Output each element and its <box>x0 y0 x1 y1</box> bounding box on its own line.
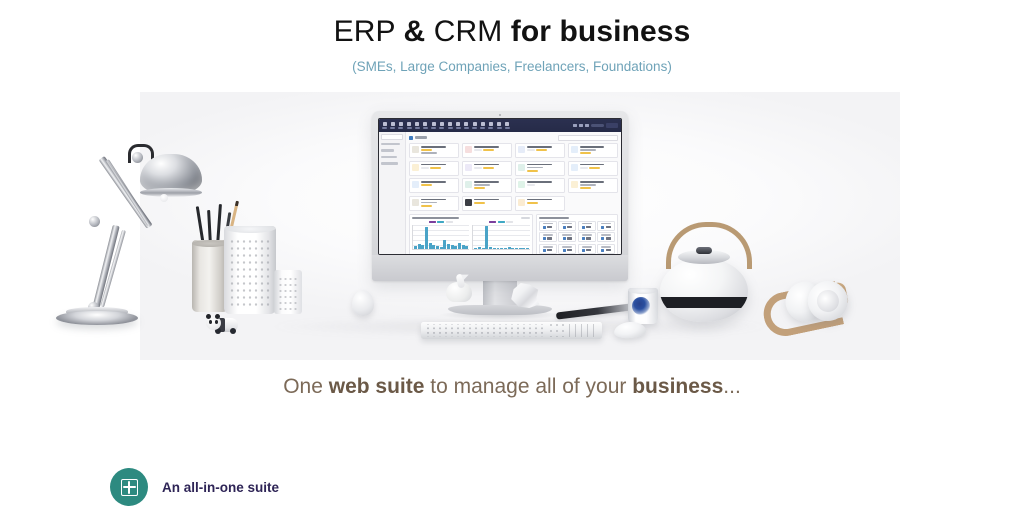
bar <box>519 248 522 249</box>
bar <box>462 245 465 249</box>
stat-icon <box>543 249 546 252</box>
dashboard-card[interactable] <box>515 178 565 193</box>
dashboard-card[interactable] <box>568 143 618 158</box>
stat-value <box>561 237 574 240</box>
card-amount <box>580 152 591 154</box>
bar <box>526 248 529 249</box>
toolbar-item-icon <box>497 122 501 126</box>
toolbar-status-icon[interactable] <box>573 124 577 127</box>
monitor-chin <box>372 255 628 281</box>
webcam-icon <box>499 114 501 116</box>
card-amount-secondary <box>474 149 482 151</box>
dashboard-card[interactable] <box>462 143 512 158</box>
card-amount-secondary <box>527 149 535 151</box>
card-icon <box>412 164 419 171</box>
card-value-row <box>421 149 456 151</box>
hero-image <box>0 92 1024 360</box>
dashboard-card[interactable] <box>568 161 618 176</box>
stat-number <box>547 226 552 228</box>
dashboard-card[interactable] <box>515 161 565 176</box>
dashboard-card[interactable] <box>462 196 512 211</box>
card-value-row <box>474 149 509 151</box>
stat-tile[interactable] <box>578 221 596 231</box>
card-value-row <box>421 184 456 186</box>
card-amount <box>527 202 538 204</box>
card-title <box>474 146 499 148</box>
stat-label <box>601 223 611 224</box>
legend-swatch-purple <box>429 221 436 224</box>
dashboard-card[interactable] <box>409 143 459 158</box>
card-title <box>527 199 552 201</box>
legend-swatch-cyan <box>498 221 505 224</box>
charts-panel <box>409 214 533 255</box>
card-title <box>527 181 552 183</box>
monitor-frame <box>372 111 628 281</box>
tagline-segment: to manage all of your <box>424 375 632 398</box>
toolbar-item[interactable] <box>382 122 387 128</box>
keyboard-numpad <box>569 324 599 337</box>
bar <box>485 226 488 249</box>
card-amount <box>536 149 547 151</box>
card-amount-secondary <box>474 167 482 169</box>
panel-title <box>539 217 569 219</box>
toolbar-item-label <box>464 127 469 128</box>
bar <box>497 248 500 249</box>
bar <box>421 245 424 249</box>
stat-tile[interactable] <box>558 244 576 254</box>
dashboard-card[interactable] <box>409 178 459 193</box>
card-title <box>527 164 552 166</box>
card-text <box>527 164 562 173</box>
card-amount <box>474 202 485 204</box>
tagline-segment: ... <box>723 375 741 398</box>
panda-figurine <box>206 314 240 334</box>
stat-tile[interactable] <box>539 221 557 231</box>
card-text <box>421 164 456 173</box>
card-value-row <box>527 184 562 186</box>
stat-tile[interactable] <box>578 244 596 254</box>
toolbar-item-icon <box>464 122 468 126</box>
card-value-row <box>474 202 509 204</box>
tagline-segment: business <box>632 375 723 398</box>
bar <box>515 248 518 249</box>
dashboard-sidebar[interactable] <box>379 132 406 254</box>
stat-value <box>561 249 574 252</box>
toolbar-item[interactable] <box>431 122 436 128</box>
bar <box>447 244 450 249</box>
dashboard-card[interactable] <box>462 161 512 176</box>
panda-eye <box>215 320 218 324</box>
stat-icon <box>582 226 585 229</box>
card-value-row <box>421 205 456 207</box>
stat-value <box>561 226 574 229</box>
toolbar-item-label <box>439 127 444 128</box>
toolbar-item-label <box>505 127 510 128</box>
teapot-body <box>660 258 748 322</box>
keyboard <box>421 322 602 339</box>
stat-number <box>567 237 572 239</box>
stat-label <box>601 234 611 235</box>
card-value-row <box>527 202 562 204</box>
legend-swatch-gray <box>506 221 513 224</box>
card-icon <box>412 146 419 153</box>
toolbar-item[interactable] <box>456 122 461 128</box>
sidebar-link[interactable] <box>381 149 394 152</box>
tagline-segment: web suite <box>329 375 425 398</box>
keyboard-arrow-keys <box>547 324 567 337</box>
chart-plot-area <box>472 225 529 250</box>
toolbar-item[interactable] <box>398 122 403 128</box>
stat-label <box>562 223 572 224</box>
bar <box>414 246 417 249</box>
card-value-row <box>527 149 562 151</box>
grid-window-icon <box>110 468 148 506</box>
toolbar-item-icon <box>456 122 460 126</box>
card-amount <box>421 149 432 151</box>
toolbar-item[interactable] <box>497 122 502 128</box>
panel-header <box>412 217 530 219</box>
chart-x-axis <box>472 250 529 253</box>
toolbar-item-icon <box>399 122 403 126</box>
card-value-row <box>527 170 562 172</box>
card-sub <box>474 184 490 186</box>
bar <box>443 240 446 249</box>
monitor-stand-base <box>448 305 552 315</box>
dashboard-card[interactable] <box>515 143 565 158</box>
card-icon <box>465 181 472 188</box>
monitor-screen <box>378 118 622 255</box>
card-sub <box>421 152 437 154</box>
desk-lamp <box>48 140 208 325</box>
dashboard-card[interactable] <box>462 178 512 193</box>
toolbar-item-icon <box>415 122 419 126</box>
card-amount-secondary <box>527 184 535 186</box>
cup-perforation-pattern <box>229 238 271 308</box>
card-title <box>580 146 605 148</box>
toolbar-item-label <box>382 127 387 128</box>
card-sub <box>527 167 543 169</box>
feature-badge-label: An all-in-one suite <box>162 480 279 495</box>
card-text <box>580 164 615 173</box>
card-title <box>527 146 552 148</box>
stat-label <box>543 246 553 247</box>
card-value-row <box>474 187 509 189</box>
bar <box>432 245 435 249</box>
dashboard-panels <box>409 214 618 255</box>
stat-icon <box>601 249 604 252</box>
legend-swatch-gray <box>446 221 453 224</box>
card-text <box>527 146 562 155</box>
stat-label <box>543 234 553 235</box>
card-icon <box>412 199 419 206</box>
card-icon <box>518 199 525 206</box>
panel-header-controls[interactable] <box>521 217 530 219</box>
lamp-shade-rim <box>140 188 202 197</box>
panda-ear <box>206 314 211 319</box>
tagline-segment: One <box>283 375 329 398</box>
card-text <box>474 181 509 190</box>
dashboard-card-grid <box>409 143 618 211</box>
stat-tile[interactable] <box>597 244 615 254</box>
toolbar-item[interactable] <box>488 122 493 128</box>
page-title-segment: for business <box>511 15 691 48</box>
card-icon <box>571 146 578 153</box>
toolbar-item[interactable] <box>505 122 510 128</box>
page-subtitle: (SMEs, Large Companies, Freelancers, Fou… <box>0 58 1024 76</box>
stat-icon <box>601 226 604 229</box>
stat-icon <box>563 237 566 240</box>
card-amount <box>474 187 485 189</box>
toolbar-item-icon <box>383 122 387 126</box>
page-title-segment: CRM <box>434 15 511 48</box>
toolbar-item[interactable] <box>407 122 412 128</box>
grid-icon-horizontal-divider <box>123 486 136 488</box>
toolbar-item-icon <box>440 122 444 126</box>
stat-value <box>599 226 612 229</box>
bar <box>478 247 481 249</box>
stat-tile-grid <box>539 221 615 254</box>
dashboard-body <box>379 132 621 254</box>
page-title-segment: ERP <box>334 15 404 48</box>
toolbar-status-icon[interactable] <box>579 124 583 127</box>
toolbar-item-icon <box>448 122 452 126</box>
card-text <box>421 146 456 155</box>
card-title <box>474 164 499 166</box>
card-icon <box>465 199 472 206</box>
toolbar-item[interactable] <box>415 122 420 128</box>
card-text <box>421 199 456 208</box>
bar <box>500 248 503 249</box>
stat-value <box>580 237 593 240</box>
card-title <box>474 199 499 201</box>
stat-number <box>606 237 611 239</box>
toolbar-item-label <box>497 127 502 128</box>
dashboard-card[interactable] <box>568 178 618 193</box>
stat-icon <box>582 237 585 240</box>
toolbar-item-icon <box>407 122 411 126</box>
sidebar-link[interactable] <box>381 162 398 165</box>
card-title <box>580 181 605 183</box>
card-icon <box>518 181 525 188</box>
bar <box>508 247 511 249</box>
dashboard-filter-select[interactable] <box>558 135 618 141</box>
bar <box>504 248 507 249</box>
breadcrumb-label <box>415 136 427 138</box>
bar <box>522 248 525 249</box>
stat-tile[interactable] <box>558 232 576 242</box>
card-text <box>580 181 615 190</box>
card-title <box>421 146 446 148</box>
mini-bar-chart-left <box>412 221 469 253</box>
stat-icon <box>563 249 566 252</box>
toolbar-item[interactable] <box>439 122 444 128</box>
panel-header <box>539 217 615 219</box>
lamp-base <box>56 311 138 325</box>
stat-number <box>606 226 611 228</box>
card-sub <box>421 202 437 204</box>
stat-number <box>547 249 552 251</box>
bar <box>511 248 514 249</box>
toolbar-item-label <box>390 127 395 128</box>
imac-monitor <box>372 111 628 281</box>
stat-icon <box>601 237 604 240</box>
dashboard-card-placeholder <box>568 196 618 211</box>
hero-tagline: One web suite to manage all of your busi… <box>0 373 1024 401</box>
keyboard-main-keys <box>424 324 545 337</box>
stat-icon <box>563 226 566 229</box>
card-title <box>421 199 446 201</box>
breadcrumb-icon <box>409 136 413 140</box>
stat-value <box>541 237 554 240</box>
card-text <box>474 199 509 208</box>
stat-tile[interactable] <box>539 232 557 242</box>
user-avatar[interactable] <box>606 123 618 128</box>
toolbar-item[interactable] <box>448 122 453 128</box>
bar <box>436 246 439 249</box>
page-title-segment: & <box>404 15 434 48</box>
card-icon <box>412 181 419 188</box>
toolbar-item-label <box>456 127 461 128</box>
toolbar-item-icon <box>489 122 493 126</box>
toolbar-item-icon <box>481 122 485 126</box>
card-value-row <box>421 167 456 169</box>
stat-label <box>582 223 592 224</box>
card-value-row <box>580 152 615 154</box>
card-icon <box>518 164 525 171</box>
card-amount <box>527 170 538 172</box>
card-value-row <box>580 167 615 169</box>
pencil-cup-small <box>274 270 302 314</box>
card-text <box>421 181 456 190</box>
card-amount <box>580 187 591 189</box>
bar <box>440 247 443 249</box>
card-sub <box>580 149 596 151</box>
charts-row <box>412 221 530 253</box>
stat-number <box>547 237 552 239</box>
card-value-row <box>474 167 509 169</box>
toolbar-item[interactable] <box>472 122 477 128</box>
stat-icon <box>582 249 585 252</box>
stat-value <box>541 226 554 229</box>
card-text <box>527 181 562 190</box>
legend-swatch-purple <box>489 221 496 224</box>
card-amount <box>483 149 494 151</box>
card-text <box>527 199 562 208</box>
card-title <box>421 164 446 166</box>
toolbar-item[interactable] <box>423 122 428 128</box>
stat-value <box>541 249 554 252</box>
bar <box>474 248 477 249</box>
card-amount <box>430 167 441 169</box>
toolbar-item-label <box>415 127 420 128</box>
toolbar-status-icon[interactable] <box>585 124 589 127</box>
card-icon <box>465 146 472 153</box>
toolbar-item-label <box>472 127 477 128</box>
toolbar-item[interactable] <box>480 122 485 128</box>
chart-plot-area <box>412 225 469 250</box>
chart-legend <box>412 221 469 224</box>
teapot-knob <box>696 247 712 254</box>
card-icon <box>571 181 578 188</box>
card-title <box>421 181 446 183</box>
stat-label <box>562 246 572 247</box>
card-amount <box>421 184 432 186</box>
bar <box>465 246 468 249</box>
toolbar-search-box[interactable] <box>591 124 604 127</box>
bird-beak <box>461 272 470 280</box>
card-amount <box>589 167 600 169</box>
page-title: ERP & CRM for business <box>0 14 1024 50</box>
stat-tile[interactable] <box>597 232 615 242</box>
cup-perforation-pattern <box>278 276 298 310</box>
bar <box>429 243 432 249</box>
card-amount-secondary <box>580 167 588 169</box>
grid-icon-shape <box>121 479 138 496</box>
bar <box>493 248 496 249</box>
sidebar-search-input[interactable] <box>381 134 403 140</box>
toolbar-item-label <box>423 127 428 128</box>
sidebar-link[interactable] <box>381 143 400 146</box>
toolbar-item[interactable] <box>464 122 469 128</box>
breadcrumb <box>409 135 618 141</box>
card-amount <box>421 205 432 207</box>
sidebar-link[interactable] <box>381 156 397 159</box>
stat-label <box>582 246 592 247</box>
dashboard-card[interactable] <box>409 196 459 211</box>
bar <box>451 245 454 249</box>
toolbar-item-icon <box>432 122 436 126</box>
card-title <box>474 181 499 183</box>
dashboard-card[interactable] <box>515 196 565 211</box>
toolbar-item-label <box>431 127 436 128</box>
stat-value <box>580 249 593 252</box>
toolbar-menu-items[interactable] <box>382 122 573 128</box>
feature-badge[interactable]: An all-in-one suite <box>110 468 279 506</box>
toolbar-item-label <box>407 127 412 128</box>
card-text <box>474 164 509 173</box>
toolbar-right-controls[interactable] <box>573 123 618 128</box>
panel-title <box>412 217 459 219</box>
toolbar-item-label <box>480 127 485 128</box>
toolbar-item-icon <box>505 122 509 126</box>
stat-tile[interactable] <box>558 221 576 231</box>
stat-icon <box>543 237 546 240</box>
card-icon <box>465 164 472 171</box>
dashboard-toolbar[interactable] <box>379 119 621 132</box>
card-value-row <box>580 187 615 189</box>
stat-value <box>599 249 612 252</box>
card-sub <box>580 184 596 186</box>
stat-tile[interactable] <box>578 232 596 242</box>
toolbar-item[interactable] <box>390 122 395 128</box>
card-icon <box>518 146 525 153</box>
toolbar-item-icon <box>473 122 477 126</box>
mini-bar-chart-right <box>472 221 529 253</box>
stat-number <box>606 249 611 251</box>
stat-icon <box>543 226 546 229</box>
stat-tile[interactable] <box>539 244 557 254</box>
teapot <box>648 222 760 328</box>
stat-tile[interactable] <box>597 221 615 231</box>
bar <box>482 248 485 249</box>
bar <box>489 247 492 249</box>
toolbar-item-label <box>448 127 453 128</box>
pencil-cup-concrete <box>192 240 228 312</box>
lamp-bulb <box>160 194 168 202</box>
toolbar-item-icon <box>391 122 395 126</box>
dashboard-card[interactable] <box>409 161 459 176</box>
bird-figurine <box>444 274 474 304</box>
